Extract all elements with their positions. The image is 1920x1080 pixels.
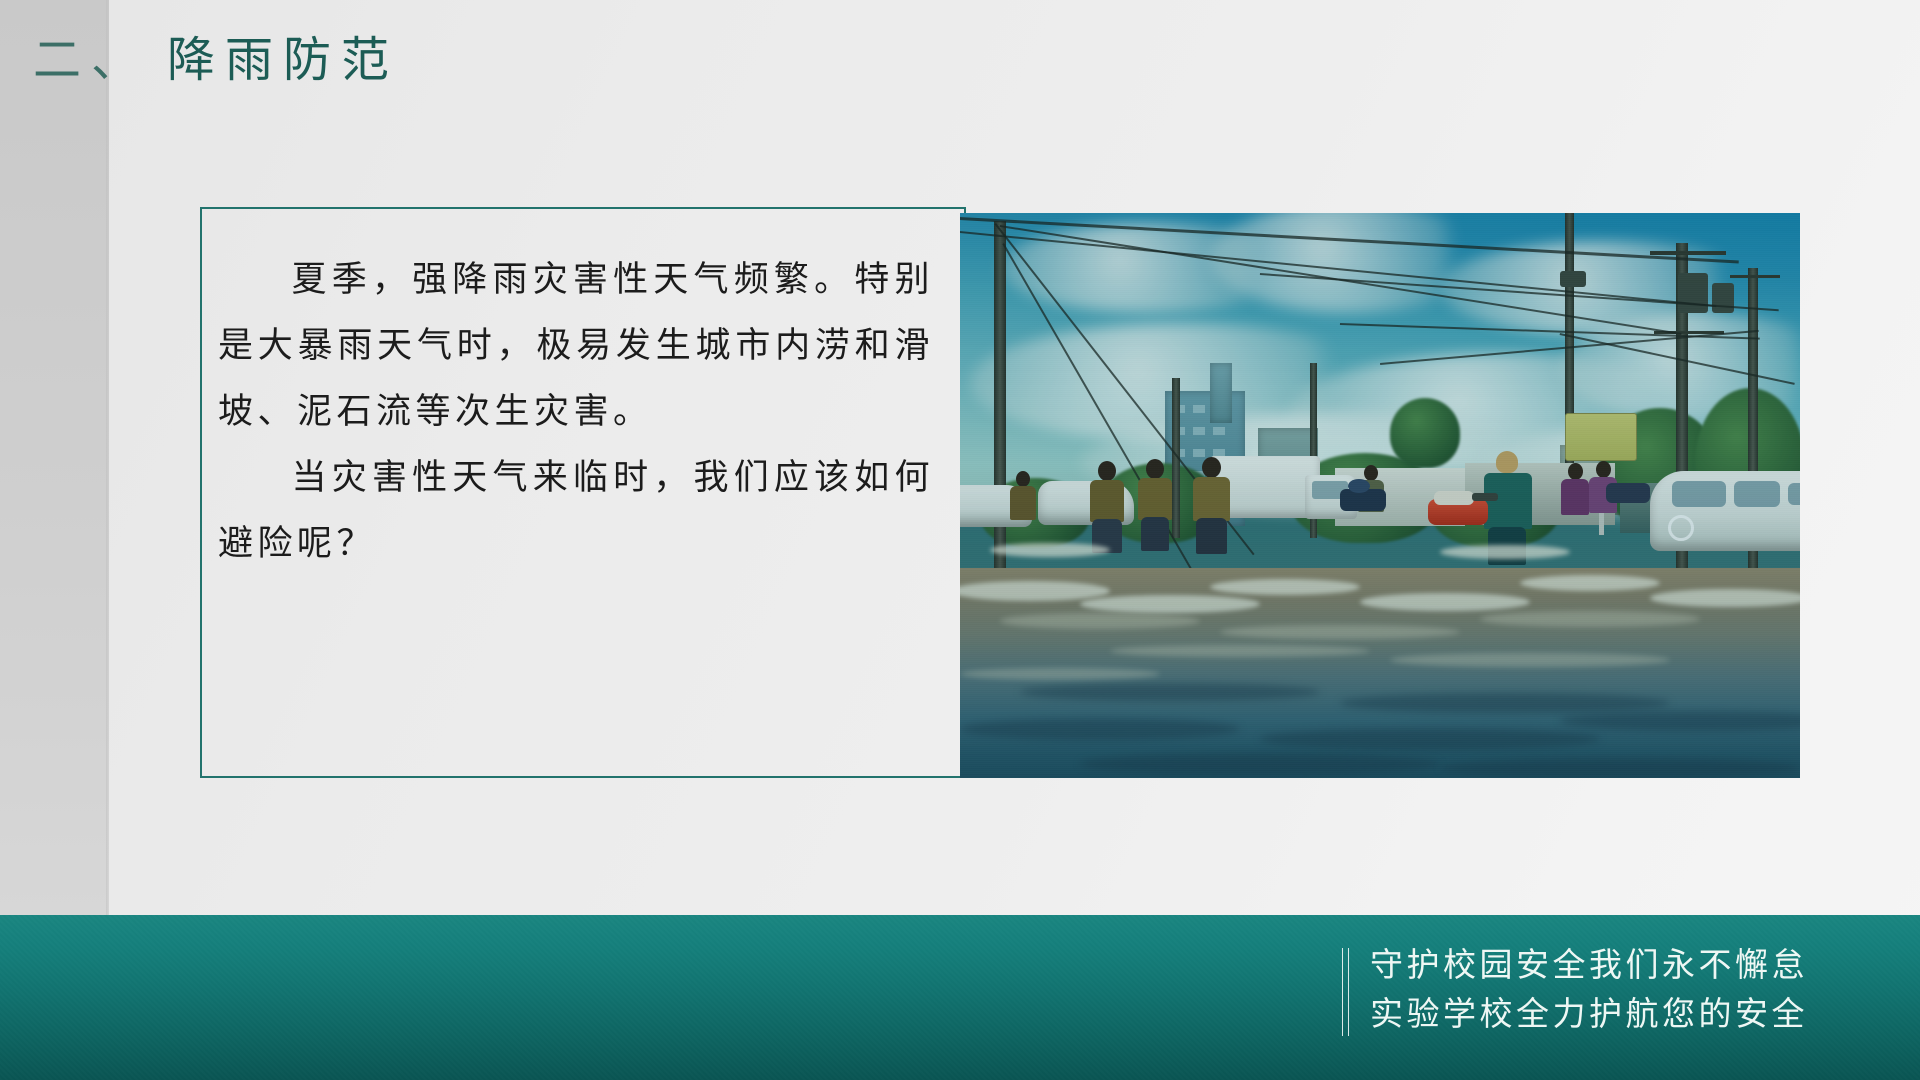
photo-grain <box>960 213 1800 778</box>
slide-canvas: 二、降雨防范 夏季，强降雨灾害性天气频繁。特别是大暴雨天气时，极易发生城市内涝和… <box>0 0 1920 1080</box>
footer-slogan: 守护校园安全我们永不懈怠 实验学校全力护航您的安全 <box>1370 940 1808 1038</box>
page-title: 二、降雨防范 <box>33 28 399 94</box>
footer-divider <box>1342 948 1349 1036</box>
flood-photo <box>960 213 1800 778</box>
page-title-text: 降雨防范 <box>167 34 399 87</box>
footer-slogan-line-1: 守护校园安全我们永不懈怠 <box>1370 940 1808 989</box>
content-body: 夏季，强降雨灾害性天气频繁。特别是大暴雨天气时，极易发生城市内涝和滑坡、泥石流等… <box>218 247 934 577</box>
content-textbox: 夏季，强降雨灾害性天气频繁。特别是大暴雨天气时，极易发生城市内涝和滑坡、泥石流等… <box>200 207 966 778</box>
left-accent-strip <box>0 0 109 915</box>
footer-slogan-line-2: 实验学校全力护航您的安全 <box>1370 989 1808 1038</box>
left-accent-strip-edge <box>106 0 109 915</box>
content-paragraph-2: 当灾害性天气来临时，我们应该如何避险呢？ <box>218 445 934 577</box>
page-title-index: 二、 <box>33 34 149 87</box>
content-paragraph-1: 夏季，强降雨灾害性天气频繁。特别是大暴雨天气时，极易发生城市内涝和滑坡、泥石流等… <box>218 247 934 445</box>
